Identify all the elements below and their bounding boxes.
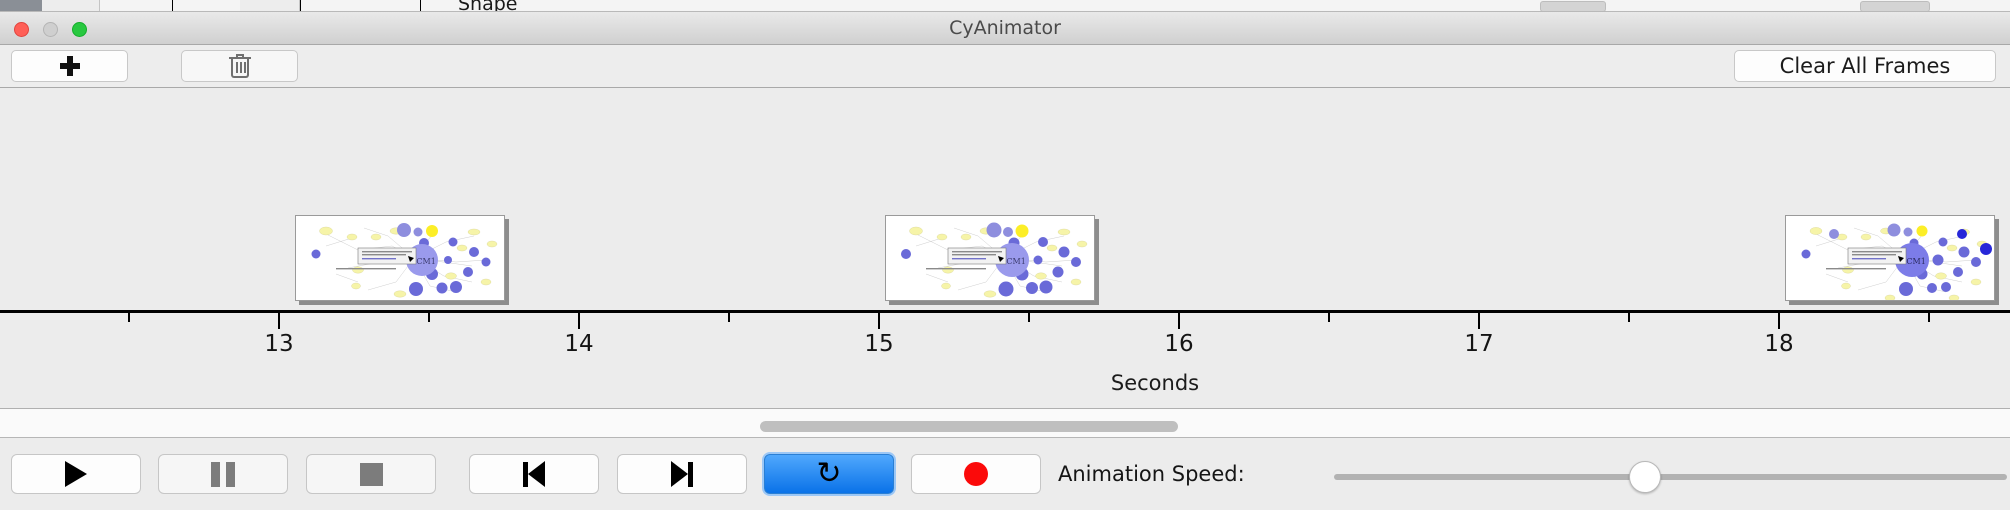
tick-minor (1928, 313, 1930, 322)
frame-thumbnail-2[interactable]: MCM1 (885, 215, 1095, 301)
timeline-scrollbar-track[interactable] (0, 408, 2010, 438)
bg-tick (172, 0, 173, 12)
bg-tab (42, 0, 100, 12)
clear-all-frames-button[interactable]: Clear All Frames (1734, 50, 1996, 82)
clear-all-frames-label: Clear All Frames (1780, 54, 1951, 78)
network-graph-preview: MCM1 (296, 216, 505, 301)
tick-label: 13 (264, 331, 293, 357)
skip-forward-icon (671, 461, 693, 487)
animation-speed-label: Animation Speed: (1058, 454, 1245, 494)
timeline-panel[interactable]: MCM1 (0, 88, 2010, 408)
frames-toolbar: Clear All Frames (0, 45, 2010, 88)
stop-button[interactable] (306, 454, 436, 494)
tick-label: 15 (864, 331, 893, 357)
tick-label: 14 (564, 331, 593, 357)
tick-minor (428, 313, 430, 322)
next-frame-button[interactable] (617, 454, 747, 494)
record-button[interactable] (911, 454, 1041, 494)
timeline-ruler[interactable] (0, 310, 2010, 313)
loop-button[interactable]: ↻ (764, 454, 894, 494)
bg-partial-label: Shape (458, 0, 518, 12)
animation-speed-slider-thumb[interactable] (1629, 461, 1661, 493)
timeline-scrollbar-thumb[interactable] (760, 421, 1178, 432)
tick-label: 18 (1764, 331, 1793, 357)
tick-minor (728, 313, 730, 322)
tick-label: 17 (1464, 331, 1493, 357)
window-title: CyAnimator (0, 12, 2010, 45)
bg-tick (420, 0, 421, 12)
play-icon (65, 461, 87, 487)
tick-minor (1328, 313, 1330, 322)
tick-major (878, 313, 880, 329)
bg-rounded-widget (1540, 1, 1606, 12)
network-graph-preview: MCM1 (1786, 216, 1995, 301)
tick-minor (1028, 313, 1030, 322)
frame-thumbnail-1[interactable]: MCM1 (295, 215, 505, 301)
background-window-strip: Shape (0, 0, 2010, 12)
bg-rounded-widget (1860, 1, 1930, 12)
bg-tab (240, 0, 300, 12)
plus-icon (60, 56, 80, 76)
record-icon (964, 462, 988, 486)
bg-tick (300, 0, 301, 12)
trash-icon (229, 54, 251, 78)
tick-major (578, 313, 580, 329)
playback-controls-bar: ↻ Animation Speed: (0, 438, 2010, 510)
delete-frame-button[interactable] (181, 50, 298, 82)
tick-major (1478, 313, 1480, 329)
play-button[interactable] (11, 454, 141, 494)
tick-minor (1628, 313, 1630, 322)
pause-icon (211, 462, 235, 487)
add-frame-button[interactable] (11, 50, 128, 82)
stop-icon (360, 463, 383, 486)
tick-minor (128, 313, 130, 322)
bg-dark-block (0, 0, 42, 12)
window-titlebar: CyAnimator (0, 12, 2010, 45)
timeline-axis-title: Seconds (0, 371, 2010, 395)
pause-button[interactable] (158, 454, 288, 494)
frame-thumbnail-3[interactable]: MCM1 (1785, 215, 1995, 301)
network-graph-preview: MCM1 (886, 216, 1095, 301)
animation-speed-slider-track[interactable] (1334, 474, 2007, 480)
loop-icon: ↻ (816, 459, 841, 489)
tick-major (1178, 313, 1180, 329)
tick-label: 16 (1164, 331, 1193, 357)
skip-back-icon (523, 461, 545, 487)
tick-major (1778, 313, 1780, 329)
tick-major (278, 313, 280, 329)
prev-frame-button[interactable] (469, 454, 599, 494)
